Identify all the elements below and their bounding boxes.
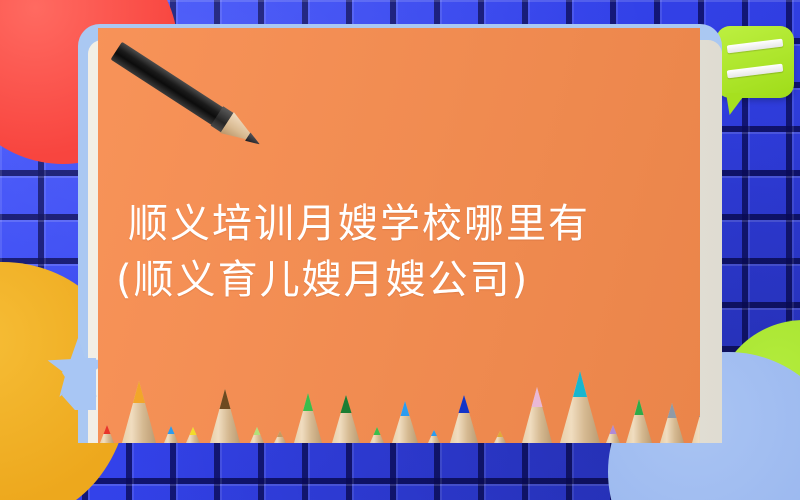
pencil-color-tip [133, 381, 145, 403]
pencil-color-tip [700, 401, 701, 417]
colored-pencil [494, 431, 506, 443]
colored-pencil [294, 393, 322, 443]
colored-pencil [450, 395, 478, 443]
colored-pencil [560, 371, 600, 443]
orange-title-card: 顺义培训月嫂学校哪里有 (顺义育儿嫂月嫂公司) [98, 28, 700, 443]
cover-image-stage: 顺义培训月嫂学校哪里有 (顺义育儿嫂月嫂公司) [0, 0, 800, 500]
pencil-color-tip [401, 401, 410, 416]
page-title: 顺义培训月嫂学校哪里有 (顺义育儿嫂月嫂公司) [116, 196, 682, 308]
pencil-color-tip [459, 395, 470, 413]
pencil-color-tip [635, 399, 644, 415]
pencil-barrel [111, 42, 230, 129]
speech-bubble-icon [716, 26, 794, 98]
pencil-color-tip [532, 387, 543, 407]
colored-pencil [692, 401, 700, 443]
pencil-color-tip [341, 395, 352, 413]
colored-pencil [100, 425, 114, 443]
colored-pencil [606, 425, 620, 443]
colored-pencil [186, 427, 200, 443]
colored-pencil-row [98, 371, 700, 443]
pencil-color-tip [104, 425, 111, 434]
pencil-color-tip [497, 431, 503, 437]
title-line-2: (顺义育儿嫂月嫂公司) [116, 252, 682, 308]
title-line-1: 顺义培训月嫂学校哪里有 [116, 196, 682, 252]
pencil-color-tip [303, 393, 313, 411]
colored-pencil [392, 401, 418, 443]
colored-pencil [210, 389, 240, 443]
pencil-color-tip [277, 431, 283, 437]
colored-pencil [522, 387, 552, 443]
pencil-color-tip [168, 426, 175, 434]
colored-pencil [428, 430, 440, 443]
colored-pencil [274, 431, 286, 443]
black-pencil-icon [107, 37, 266, 157]
colored-pencil [332, 395, 360, 443]
bubble-line-1 [727, 39, 784, 54]
pencil-color-tip [374, 427, 381, 435]
bubble-line-2 [727, 64, 784, 79]
pencil-color-tip [668, 403, 677, 418]
colored-pencil [660, 403, 684, 443]
pencil-color-tip [610, 425, 617, 434]
colored-pencil [370, 427, 384, 443]
colored-pencil [626, 399, 652, 443]
pencil-color-tip [573, 371, 587, 397]
pencil-color-tip [254, 427, 261, 435]
pencil-color-tip [190, 427, 197, 435]
colored-pencil [250, 427, 264, 443]
pencil-color-tip [220, 389, 231, 409]
colored-pencil [122, 381, 156, 443]
pencil-color-tip [431, 430, 437, 436]
colored-pencil [164, 426, 178, 443]
